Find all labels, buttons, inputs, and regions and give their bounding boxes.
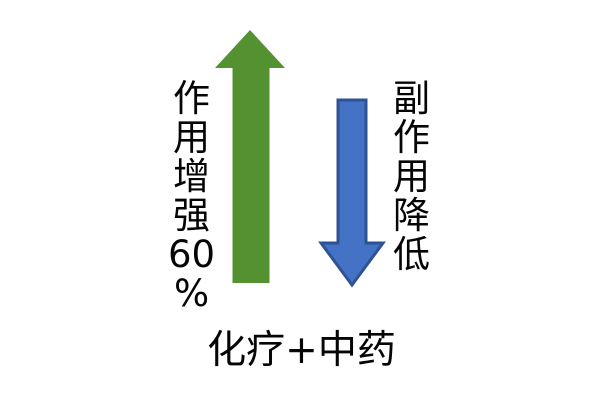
slide-canvas: 作 用 增 强 60 % 副 作 用 降 低 化疗+中药 [0,0,603,401]
arrow-up-icon [215,30,285,283]
left-label-char: % [174,274,209,313]
left-vertical-label: 作 用 增 强 60 % [168,79,215,313]
right-label-char: 作 [393,118,430,157]
right-label-char: 低 [393,235,430,274]
left-label-char: 增 [173,157,210,196]
left-label-char: 作 [173,79,210,118]
bottom-caption: 化疗+中药 [0,328,603,374]
left-label-char: 用 [173,118,210,157]
right-label-char: 用 [393,157,430,196]
right-vertical-label: 副 作 用 降 低 [393,79,430,274]
left-label-char: 60 [168,235,215,274]
right-label-char: 副 [393,79,430,118]
arrow-down-icon [321,100,383,285]
right-label-char: 降 [393,196,430,235]
left-label-char: 强 [173,196,210,235]
